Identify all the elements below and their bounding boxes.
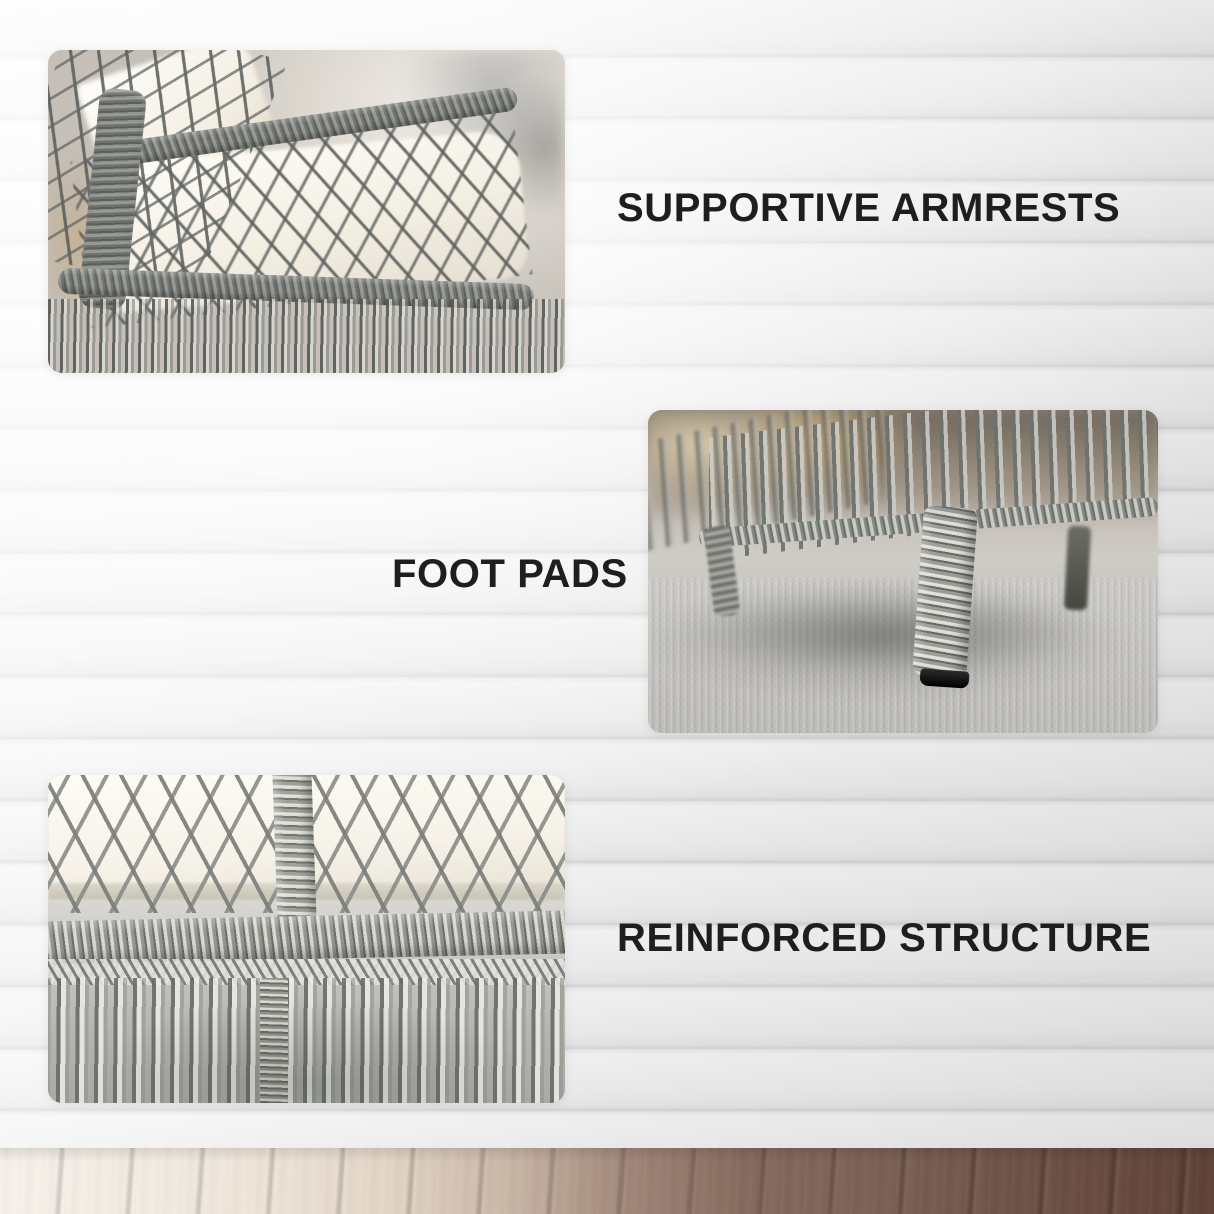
floor-wall-shadow [0,1148,1214,1162]
footpad-cast-shadow [679,591,1097,675]
feature-label-armrests: SUPPORTIVE ARMRESTS [617,188,1120,228]
feature-image-structure [48,775,565,1103]
wood-deck-floor [0,1148,1214,1214]
footpad-black-pad [920,668,970,688]
structure-vertical-post [273,775,317,927]
feature-image-footpads [648,410,1158,733]
infographic-canvas: SUPPORTIVE ARMRESTS FOOT PADS REINFORCED… [0,0,1214,1214]
feature-label-footpads: FOOT PADS [392,554,628,594]
footpad-right-leg [1064,526,1091,611]
structure-shadow-overlay [48,978,565,1103]
feature-label-structure: REINFORCED STRUCTURE [617,918,1151,958]
feature-image-armrests [48,50,565,373]
armrest-lower-spindles [48,299,565,373]
